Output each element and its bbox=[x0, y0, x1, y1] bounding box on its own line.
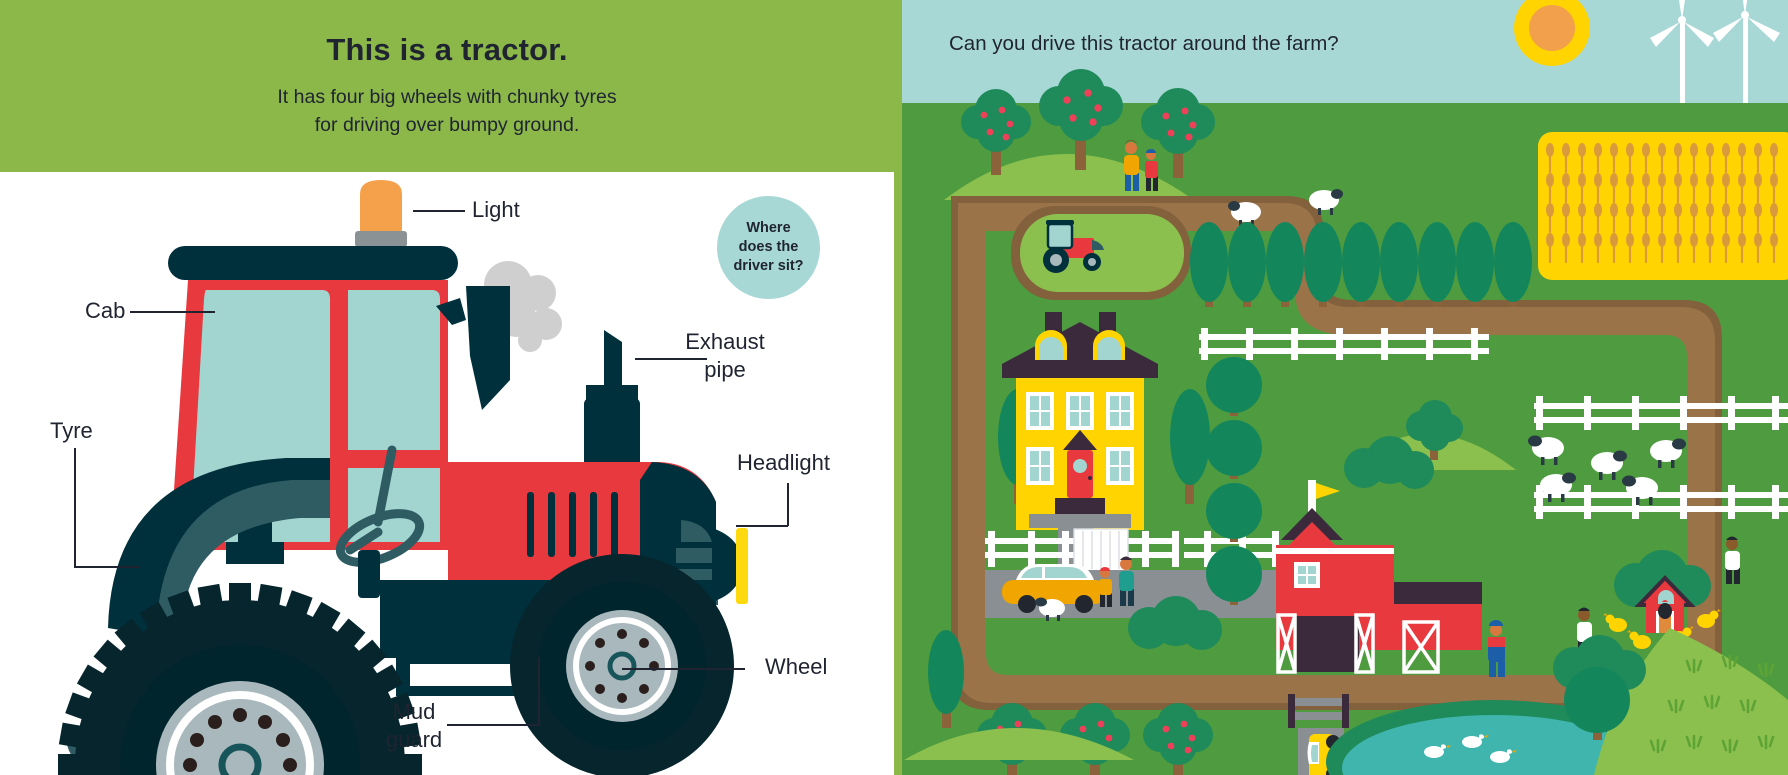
label-wheel: Wheel bbox=[765, 653, 827, 681]
leader-tyre-v bbox=[74, 448, 76, 568]
front-rim bbox=[566, 610, 678, 722]
cab-lower-window bbox=[348, 468, 440, 542]
label-tyre: Tyre bbox=[50, 417, 93, 445]
label-cab: Cab bbox=[85, 297, 125, 325]
sun-core bbox=[1529, 5, 1575, 51]
left-page-banner: This is a tractor. It has four big wheel… bbox=[0, 0, 894, 172]
beacon-base bbox=[355, 231, 407, 247]
leader-headlight-h bbox=[736, 525, 788, 527]
farmhouse-gate bbox=[1074, 529, 1128, 571]
label-exhaust-pipe: Exhaust pipe bbox=[670, 328, 780, 384]
cab-side-window bbox=[348, 290, 440, 450]
bubble-driver-question: Where does the driver sit? bbox=[717, 196, 820, 299]
page-title: This is a tractor. bbox=[326, 32, 567, 68]
right-page: Can you drive this tractor around the fa… bbox=[894, 0, 1788, 775]
leader-tyre-h bbox=[74, 566, 139, 568]
subtitle-line-1: It has four big wheels with chunky tyres bbox=[277, 84, 616, 112]
page-subtitle: It has four big wheels with chunky tyres… bbox=[277, 84, 616, 139]
house-upper-windows bbox=[1026, 392, 1134, 430]
chassis-step-hole bbox=[410, 664, 512, 686]
exhaust-pipe-body bbox=[584, 398, 640, 472]
steering-column bbox=[358, 550, 380, 598]
tractor-bay-grass bbox=[1020, 214, 1184, 292]
farm-map-illustration bbox=[894, 0, 1788, 775]
cab-roof bbox=[168, 246, 458, 280]
leader-light bbox=[413, 210, 465, 212]
leader-mudguard-v bbox=[538, 657, 540, 725]
leader-headlight-v bbox=[787, 483, 789, 526]
book-spread: This is a tractor. It has four big wheel… bbox=[0, 0, 1788, 775]
house-door bbox=[1067, 450, 1093, 498]
label-light: Light bbox=[472, 196, 520, 224]
seat-base bbox=[226, 542, 284, 564]
label-headlight: Headlight bbox=[737, 449, 830, 477]
beacon-lamp bbox=[360, 180, 402, 231]
page-gutter-strip bbox=[894, 0, 902, 775]
farm-page-question: Can you drive this tractor around the fa… bbox=[949, 32, 1339, 56]
label-mud-guard: Mud guard bbox=[374, 698, 454, 754]
subtitle-line-2: for driving over bumpy ground. bbox=[277, 112, 616, 140]
left-page: This is a tractor. It has four big wheel… bbox=[0, 0, 894, 775]
cab-mullion bbox=[330, 290, 348, 542]
leader-mudguard-h bbox=[447, 724, 540, 726]
leader-wheel bbox=[622, 668, 745, 670]
headlight-lens bbox=[736, 528, 748, 604]
wing-mirror-glass bbox=[466, 286, 510, 410]
poplar-row bbox=[1190, 222, 1532, 307]
front-wheel bbox=[510, 554, 734, 775]
leader-cab bbox=[130, 311, 215, 313]
